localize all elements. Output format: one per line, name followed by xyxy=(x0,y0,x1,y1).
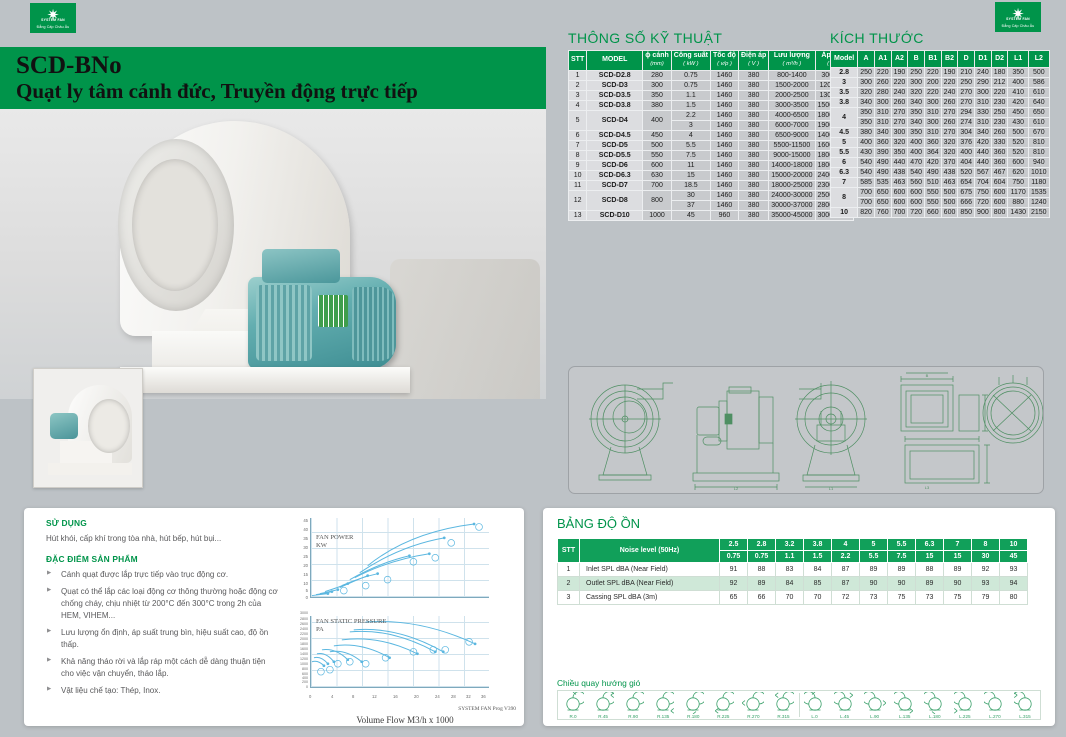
rotation-label: R.270 xyxy=(739,714,767,719)
dims-cell-b2: 260 xyxy=(941,98,958,108)
power-ytick-45: 45 xyxy=(290,518,308,523)
dims-cell-d: 520 xyxy=(958,168,975,178)
table-row: 1082076070072066060085090080014302150 xyxy=(831,208,1050,218)
usage-title: SỬ DỤNG xyxy=(46,518,278,528)
noise-model-1: 2.8 xyxy=(748,539,776,551)
scroll-outlet-icon xyxy=(954,692,976,714)
spec-cell-dia: 800 xyxy=(643,190,672,210)
dims-cell-l1: 1430 xyxy=(1008,208,1029,218)
dims-cell-b1: 490 xyxy=(924,168,941,178)
noise-cell-stt: 3 xyxy=(558,591,580,605)
dims-col-a1: A1 xyxy=(874,51,891,68)
scroll-outlet-icon xyxy=(804,692,826,714)
noise-model-4: 4 xyxy=(832,539,860,551)
product-photo-main: ✷ SYSTEM FAN xyxy=(0,109,546,399)
spec-cell-v: 380 xyxy=(738,90,768,100)
dims-cell-l1: 750 xyxy=(1008,178,1029,188)
noise-cell-8: 75 xyxy=(944,591,972,605)
table-row: 2Outlet SPL dBA (Near Field)928984858790… xyxy=(558,577,1028,591)
spec-cell-dia: 700 xyxy=(643,180,672,190)
motor-terminal-box xyxy=(262,249,340,283)
rotation-label: L.0 xyxy=(801,714,829,719)
fan-power-chart: FAN POWERKW xyxy=(288,514,493,610)
noise-cell-5: 89 xyxy=(860,563,888,577)
spec-cell-rpm: 1460 xyxy=(711,170,739,180)
dims-cell-l1: 420 xyxy=(1008,98,1029,108)
dims-cell-b2: 190 xyxy=(941,68,958,78)
spec-cell-model: SCD-D3 xyxy=(587,80,643,90)
rotation-option-r-135[interactable]: R.135 xyxy=(649,692,677,719)
spec-body: 1SCD-D2.82800.751460380800-1400300-6002S… xyxy=(569,70,854,220)
dims-cell-d: 210 xyxy=(958,68,975,78)
dims-cell-d1: 720 xyxy=(975,198,992,208)
logo-tagline: Đẳng Cấp Châu Âu xyxy=(1002,24,1035,28)
spec-cell-rpm: 1460 xyxy=(711,100,739,110)
dims-cell-a2: 320 xyxy=(891,138,908,148)
spec-cell-flow: 6500-9000 xyxy=(769,130,815,140)
spec-cell-model: SCD-D6 xyxy=(587,160,643,170)
noise-model-0: 2.5 xyxy=(720,539,748,551)
spec-cell-dia: 280 xyxy=(643,70,672,80)
noise-level-card: BẢNG ĐỘ ỒN STTNoise level (50Hz)2.52.83.… xyxy=(543,508,1055,726)
table-row: 3300260220300200220250290212400586 xyxy=(831,78,1050,88)
fan-base-frame xyxy=(120,367,410,393)
spec-cell-rpm: 1460 xyxy=(711,200,739,210)
dims-cell-l1: 400 xyxy=(1008,78,1029,88)
dims-cell-d1: 300 xyxy=(975,88,992,98)
spec-cell-v: 380 xyxy=(738,160,768,170)
spec-cell-rpm: 960 xyxy=(711,210,739,220)
rotation-label: L.315 xyxy=(1011,714,1039,719)
dims-cell-b1: 550 xyxy=(924,188,941,198)
rotation-label: L.45 xyxy=(831,714,859,719)
rotation-label: R.135 xyxy=(649,714,677,719)
dims-cell-d2: 212 xyxy=(991,78,1008,88)
product-photo-thumbnail xyxy=(33,368,143,488)
noise-model-6: 5.5 xyxy=(888,539,916,551)
spec-cell-v: 380 xyxy=(738,170,768,180)
dims-cell-b1: 550 xyxy=(924,198,941,208)
rotation-group-left: L.0L.45L.90L.135L.180L.225L.270L.315 xyxy=(800,692,1041,719)
rotation-option-l-135[interactable]: L.135 xyxy=(891,692,919,719)
rotation-label: R.45 xyxy=(589,714,617,719)
dims-cell-l2: 500 xyxy=(1029,68,1050,78)
spec-cell-kw: 15 xyxy=(671,170,710,180)
rotation-option-r-270[interactable]: R.270 xyxy=(739,692,767,719)
dims-cell-a1: 490 xyxy=(874,168,891,178)
dims-cell-b2: 438 xyxy=(941,168,958,178)
usage-text: Hút khói, cấp khí trong tòa nhà, hút bếp… xyxy=(46,533,278,545)
dims-cell-d2: 600 xyxy=(991,188,1008,198)
dims-cell-l1: 500 xyxy=(1008,128,1029,138)
dims-cell-b: 600 xyxy=(908,188,925,198)
scroll-outlet-icon xyxy=(1014,692,1036,714)
spec-cell-v: 380 xyxy=(738,140,768,150)
spec-col-1: MODEL xyxy=(587,51,643,71)
rotation-option-r-45[interactable]: R.45 xyxy=(589,692,617,719)
power-ytick-35: 35 xyxy=(290,536,308,541)
noise-cell-1: 66 xyxy=(748,591,776,605)
product-title-band: SCD-BNo Quạt ly tâm cánh đức, Truyền độn… xyxy=(0,47,546,109)
spec-cell-flow: 4000-6500 xyxy=(769,110,815,120)
table-row: 75855354635605104636547046047501180 xyxy=(831,178,1050,188)
dims-body: 2.82502201902502201902102401803505003300… xyxy=(831,68,1050,218)
dims-cell-a: 700 xyxy=(858,188,875,198)
dims-cell-a1: 360 xyxy=(874,138,891,148)
table-row: 7006506006005505006667206008801240 xyxy=(831,198,1050,208)
dims-cell-model: 7 xyxy=(831,178,858,188)
spec-cell-flow: 14000-18000 xyxy=(769,160,815,170)
spec-cell-model: SCD-D10 xyxy=(587,210,643,220)
dims-cell-a: 820 xyxy=(858,208,875,218)
dims-cell-d1: 240 xyxy=(975,68,992,78)
pressure-ytick-2400: 2400 xyxy=(290,627,308,631)
photo-ghost-unit xyxy=(390,259,540,399)
power-ytick-20: 20 xyxy=(290,563,308,568)
thumb-motor xyxy=(50,413,78,439)
table-row: 13SCD-D1010004596038035000-450003000-200… xyxy=(569,210,854,220)
dims-cell-a: 340 xyxy=(858,98,875,108)
noise-cell-9: 93 xyxy=(972,577,1000,591)
spec-cell-v: 380 xyxy=(738,120,768,130)
rotation-option-l-180[interactable]: L.180 xyxy=(921,692,949,719)
dims-cell-d2: 230 xyxy=(991,118,1008,128)
dims-cell-b1: 360 xyxy=(924,138,941,148)
dims-cell-d1: 290 xyxy=(975,78,992,88)
dims-cell-a2: 700 xyxy=(891,208,908,218)
pressure-ytick-2000: 2000 xyxy=(290,637,308,641)
dims-cell-a2: 270 xyxy=(891,118,908,128)
spec-cell-model: SCD-D6.3 xyxy=(587,170,643,180)
dims-cell-b: 350 xyxy=(908,128,925,138)
spec-cell-dia: 630 xyxy=(643,170,672,180)
table-row: 10SCD-D6.363015146038015000-200002400-18… xyxy=(569,170,854,180)
power-ytick-5: 5 xyxy=(290,588,308,593)
noise-cell-0: 92 xyxy=(720,577,748,591)
pressure-xtick-20: 20 xyxy=(414,694,419,699)
rotation-section-title: Chiều quay hướng gió xyxy=(557,678,640,688)
spec-cell-rpm: 1460 xyxy=(711,90,739,100)
spec-cell-model: SCD-D4.5 xyxy=(587,130,643,140)
dims-cell-b1: 364 xyxy=(924,148,941,158)
dims-cell-d: 654 xyxy=(958,178,975,188)
dims-cell-l2: 670 xyxy=(1029,128,1050,138)
dims-cell-d1: 440 xyxy=(975,158,992,168)
power-ytick-15: 15 xyxy=(290,572,308,577)
power-chart-curves xyxy=(310,518,489,598)
rotation-option-r-315[interactable]: R.315 xyxy=(769,692,797,719)
table-row: 3.8340300260340300260270310230420640 xyxy=(831,98,1050,108)
noise-cell-9: 79 xyxy=(972,591,1000,605)
dims-cell-a2: 260 xyxy=(891,98,908,108)
noise-power-0: 0.75 xyxy=(720,551,748,563)
rotation-option-r-90[interactable]: R.90 xyxy=(619,692,647,719)
spec-cell-kw: 1.1 xyxy=(671,90,710,100)
spec-cell-flow: 6000-7000 xyxy=(769,120,815,130)
rotation-label: L.270 xyxy=(981,714,1009,719)
dims-cell-a1: 340 xyxy=(874,128,891,138)
spec-cell-stt: 10 xyxy=(569,170,587,180)
rotation-option-r-0[interactable]: R.0 xyxy=(559,692,587,719)
dims-col-model: Model xyxy=(831,51,858,68)
noise-cell-1: 89 xyxy=(748,577,776,591)
table-row: 2.8250220190250220190210240180350500 xyxy=(831,68,1050,78)
spec-cell-stt: 11 xyxy=(569,180,587,190)
spec-cell-rpm: 1460 xyxy=(711,150,739,160)
spec-cell-dia: 300 xyxy=(643,80,672,90)
noise-cell-label: Cassing SPL dBA (3m) xyxy=(580,591,720,605)
noise-level-table: STTNoise level (50Hz)2.52.83.23.8455.56.… xyxy=(557,538,1028,605)
noise-cell-2: 84 xyxy=(776,577,804,591)
dims-cell-b: 720 xyxy=(908,208,925,218)
dims-cell-d2: 604 xyxy=(991,178,1008,188)
dims-cell-a1: 260 xyxy=(874,78,891,88)
dims-cell-d2: 220 xyxy=(991,88,1008,98)
dims-cell-l2: 2150 xyxy=(1029,208,1050,218)
rotation-label: R.315 xyxy=(769,714,797,719)
rotation-option-r-180[interactable]: R.180 xyxy=(679,692,707,719)
dims-cell-d: 274 xyxy=(958,118,975,128)
dims-cell-a1: 760 xyxy=(874,208,891,218)
dims-cell-b2: 500 xyxy=(941,188,958,198)
rotation-option-l-45[interactable]: L.45 xyxy=(831,692,859,719)
spec-cell-kw: 1.5 xyxy=(671,100,710,110)
dims-cell-b1: 200 xyxy=(924,78,941,88)
dims-cell-b: 400 xyxy=(908,138,925,148)
pressure-ytick-200: 200 xyxy=(290,680,308,684)
dims-cell-d1: 567 xyxy=(975,168,992,178)
dims-cell-a2: 463 xyxy=(891,178,908,188)
dims-cell-l2: 650 xyxy=(1029,108,1050,118)
noise-col-name: Noise level (50Hz) xyxy=(580,539,720,563)
spec-cell-model: SCD-D3.5 xyxy=(587,90,643,100)
dims-cell-a2: 190 xyxy=(891,68,908,78)
fan-inlet-bore xyxy=(132,159,218,291)
dims-cell-a2: 600 xyxy=(891,188,908,198)
noise-cell-3: 84 xyxy=(804,563,832,577)
power-ytick-25: 25 xyxy=(290,554,308,559)
pressure-ytick-2200: 2200 xyxy=(290,632,308,636)
spec-cell-stt: 5 xyxy=(569,110,587,130)
dims-cell-d2: 800 xyxy=(991,208,1008,218)
power-ytick-40: 40 xyxy=(290,527,308,532)
noise-power-10: 45 xyxy=(1000,551,1028,563)
spec-cell-stt: 4 xyxy=(569,100,587,110)
spec-cell-kw: 0.75 xyxy=(671,80,710,90)
dims-cell-l2: 610 xyxy=(1029,118,1050,128)
dims-cell-a: 700 xyxy=(858,198,875,208)
feature-item-0: Cánh quạt được lắp trực tiếp vào trục độ… xyxy=(46,569,278,581)
dims-cell-l2: 1010 xyxy=(1029,168,1050,178)
dims-cell-a: 380 xyxy=(858,128,875,138)
features-title: ĐẶC ĐIỂM SẢN PHẨM xyxy=(46,554,278,564)
spec-cell-stt: 8 xyxy=(569,150,587,160)
noise-cell-stt: 2 xyxy=(558,577,580,591)
dims-cell-b: 320 xyxy=(908,88,925,98)
thumb-base xyxy=(48,463,132,475)
dims-cell-d1: 310 xyxy=(975,118,992,128)
dims-cell-a1: 280 xyxy=(874,88,891,98)
dims-cell-b1: 300 xyxy=(924,98,941,108)
dims-cell-a1: 220 xyxy=(874,68,891,78)
dims-cell-b1: 310 xyxy=(924,108,941,118)
spec-cell-flow: 800-1400 xyxy=(769,70,815,80)
noise-cell-7: 73 xyxy=(916,591,944,605)
dims-cell-model: 3.5 xyxy=(831,88,858,98)
noise-cell-3: 70 xyxy=(804,591,832,605)
noise-model-10: 10 xyxy=(1000,539,1028,551)
noise-cell-10: 93 xyxy=(1000,563,1028,577)
spec-cell-v: 380 xyxy=(738,80,768,90)
dims-header-row: ModelAA1A2BB1B2DD1D2L1L2 xyxy=(831,51,1050,68)
dims-cell-a: 300 xyxy=(858,78,875,88)
noise-header-models: STTNoise level (50Hz)2.52.83.23.8455.56.… xyxy=(558,539,1028,551)
rotation-option-l-0[interactable]: L.0 xyxy=(801,692,829,719)
noise-power-2: 1.1 xyxy=(776,551,804,563)
spec-cell-flow: 9000-15000 xyxy=(769,150,815,160)
noise-body: 1Inlet SPL dBA (Near Field)9188838487898… xyxy=(558,563,1028,605)
noise-cell-3: 85 xyxy=(804,577,832,591)
pressure-xtick-8: 8 xyxy=(352,694,354,699)
spec-col-2: ɸ cánh(mm) xyxy=(643,51,672,71)
dims-cell-a2: 300 xyxy=(891,128,908,138)
table-row: 350310270340300260274310230430610 xyxy=(831,118,1050,128)
spec-cell-rpm: 1460 xyxy=(711,70,739,80)
spec-cell-rpm: 1460 xyxy=(711,120,739,130)
noise-model-9: 8 xyxy=(972,539,1000,551)
table-row: 8SCD-D5.55507.514603809000-150001800-150… xyxy=(569,150,854,160)
specifications-table: STTMODELɸ cánh(mm)Công suất( kW )Tốc độ(… xyxy=(568,50,854,221)
spec-cell-rpm: 1460 xyxy=(711,180,739,190)
dims-cell-a1: 490 xyxy=(874,158,891,168)
rotation-label: L.180 xyxy=(921,714,949,719)
noise-power-9: 30 xyxy=(972,551,1000,563)
rotation-option-l-315[interactable]: L.315 xyxy=(1011,692,1039,719)
chart-xaxis-title: Volume Flow M3/h x 1000 xyxy=(286,715,524,725)
spec-header-row: STTMODELɸ cánh(mm)Công suất( kW )Tốc độ(… xyxy=(569,51,854,71)
spec-cell-v: 380 xyxy=(738,110,768,120)
dims-cell-l1: 620 xyxy=(1008,168,1029,178)
table-row: 9SCD-D660011146038014000-180001800-1500 xyxy=(569,160,854,170)
rotation-option-l-225[interactable]: L.225 xyxy=(951,692,979,719)
spec-cell-stt: 12 xyxy=(569,190,587,210)
dims-cell-b: 540 xyxy=(908,168,925,178)
dims-section-title: KÍCH THƯỚC xyxy=(830,30,924,46)
dims-cell-b1: 220 xyxy=(924,68,941,78)
pressure-ytick-1800: 1800 xyxy=(290,642,308,646)
noise-power-7: 15 xyxy=(916,551,944,563)
dimensions-table: ModelAA1A2BB1B2DD1D2L1L2 2.8250220190250… xyxy=(830,50,1050,218)
dims-cell-b: 400 xyxy=(908,148,925,158)
dims-cell-d1: 440 xyxy=(975,148,992,158)
dims-cell-a2: 220 xyxy=(891,78,908,88)
table-row: 3Cassing SPL dBA (3m)6566707072737573757… xyxy=(558,591,1028,605)
dims-cell-a: 350 xyxy=(858,118,875,128)
spec-col-6: Lưu lượng( m³/h ) xyxy=(769,51,815,71)
scroll-outlet-icon xyxy=(712,692,734,714)
dims-cell-l1: 1170 xyxy=(1008,188,1029,198)
spec-cell-dia: 450 xyxy=(643,130,672,140)
rotation-option-r-225[interactable]: R.225 xyxy=(709,692,737,719)
dims-col-d2: D2 xyxy=(991,51,1008,68)
dims-cell-b2: 500 xyxy=(941,198,958,208)
dims-cell-a: 250 xyxy=(858,68,875,78)
pressure-xtick-0: 0 xyxy=(309,694,311,699)
logo-wordmark: SYSTEM FAN xyxy=(41,18,65,22)
dims-cell-a: 540 xyxy=(858,158,875,168)
table-row: 4SCD-D3.83801.514603803000-35001500-1000 xyxy=(569,100,854,110)
table-row: 870065060060055050067575060011701535 xyxy=(831,188,1050,198)
spec-cell-model: SCD-D5.5 xyxy=(587,150,643,160)
rotation-option-l-270[interactable]: L.270 xyxy=(981,692,1009,719)
spec-cell-kw: 37 xyxy=(671,200,710,210)
dims-cell-model: 4 xyxy=(831,108,858,128)
rotation-label: R.0 xyxy=(559,714,587,719)
pressure-chart-title: FAN STATIC PRESSUREPA xyxy=(316,618,386,634)
dims-cell-l1: 430 xyxy=(1008,118,1029,128)
dims-cell-d: 270 xyxy=(958,98,975,108)
rotation-option-l-90[interactable]: L.90 xyxy=(861,692,889,719)
product-name: Quạt ly tâm cánh đức, Truyền động trực t… xyxy=(16,79,546,103)
dims-cell-model: 4.5 xyxy=(831,128,858,138)
product-model-code: SCD-BNo xyxy=(16,52,546,79)
dims-cell-b: 340 xyxy=(908,118,925,128)
table-row: 6540490440470420370404440360600940 xyxy=(831,158,1050,168)
dims-cell-d2: 330 xyxy=(991,138,1008,148)
dims-cell-b2: 320 xyxy=(941,148,958,158)
scroll-outlet-icon xyxy=(592,692,614,714)
noise-power-5: 5.5 xyxy=(860,551,888,563)
dims-cell-model: 6 xyxy=(831,158,858,168)
noise-cell-6: 75 xyxy=(888,591,916,605)
noise-cell-5: 73 xyxy=(860,591,888,605)
spec-cell-v: 380 xyxy=(738,150,768,160)
dims-cell-l2: 810 xyxy=(1029,138,1050,148)
dims-cell-l2: 1535 xyxy=(1029,188,1050,198)
logo-wordmark: SYSTEM FAN xyxy=(1006,17,1030,21)
dims-cell-a: 430 xyxy=(858,148,875,158)
dims-cell-b1: 220 xyxy=(924,88,941,98)
dims-cell-a2: 438 xyxy=(891,168,908,178)
brand-logo-top-right: ✷ SYSTEM FAN Đẳng Cấp Châu Âu xyxy=(995,2,1041,32)
noise-cell-stt: 1 xyxy=(558,563,580,577)
dims-col-l2: L2 xyxy=(1029,51,1050,68)
dims-col-b2: B2 xyxy=(941,51,958,68)
spec-cell-v: 380 xyxy=(738,180,768,190)
dims-cell-a1: 310 xyxy=(874,118,891,128)
spec-cell-kw: 7.5 xyxy=(671,150,710,160)
table-row: 1Inlet SPL dBA (Near Field)9188838487898… xyxy=(558,563,1028,577)
performance-charts: FAN POWERKW xyxy=(286,508,524,726)
svg-text:B: B xyxy=(926,373,929,378)
power-ytick-10: 10 xyxy=(290,581,308,586)
spec-cell-dia: 600 xyxy=(643,160,672,170)
noise-cell-8: 89 xyxy=(944,563,972,577)
dims-cell-l1: 880 xyxy=(1008,198,1029,208)
spec-cell-flow: 35000-45000 xyxy=(769,210,815,220)
dims-cell-a1: 535 xyxy=(874,178,891,188)
noise-cell-8: 90 xyxy=(944,577,972,591)
dims-cell-b: 560 xyxy=(908,178,925,188)
table-row: 12SCD-D880030146038024000-300002500-1800 xyxy=(569,190,854,200)
dims-cell-l2: 586 xyxy=(1029,78,1050,88)
dims-cell-d: 250 xyxy=(958,78,975,88)
features-and-charts-card: SỬ DỤNG Hút khói, cấp khí trong tòa nhà,… xyxy=(24,508,524,726)
noise-cell-9: 92 xyxy=(972,563,1000,577)
dims-cell-l2: 640 xyxy=(1029,98,1050,108)
spec-cell-kw: 2.2 xyxy=(671,110,710,120)
dims-cell-b2: 600 xyxy=(941,208,958,218)
